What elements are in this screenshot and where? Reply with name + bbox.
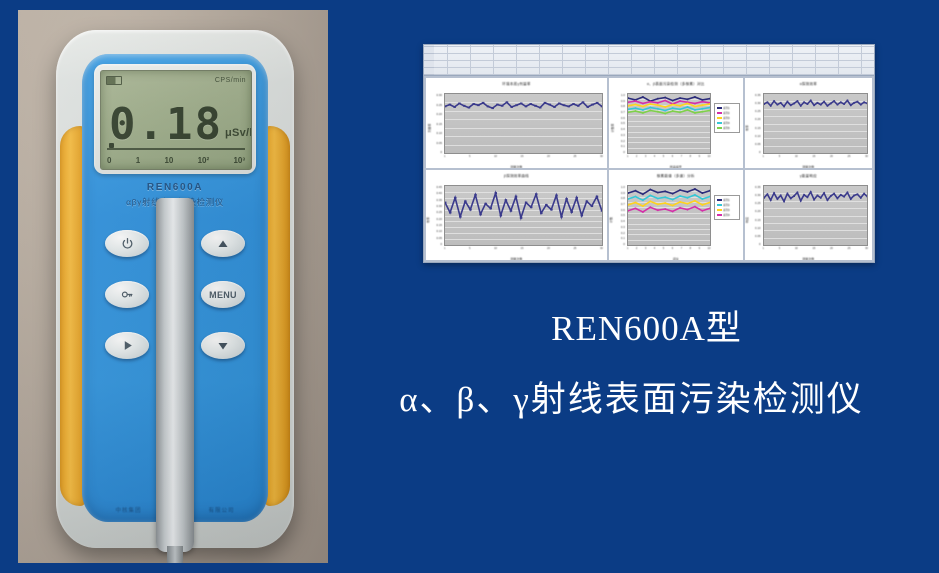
chart-data-point [650,107,651,109]
chart-data-point [568,105,571,107]
chart-data-point [679,189,680,191]
play-button[interactable] [105,332,149,359]
chart-x-axis-label: 道址 [609,257,743,260]
lcd-value: 0.18 [109,103,223,147]
chart-y-tick: 0.15 [755,218,761,222]
menu-button[interactable]: MENU [201,281,245,308]
chart-data-point [563,104,566,106]
chart-data-point [694,188,695,190]
chart-data-point [582,101,585,103]
chart-x-tick: 25 [848,155,851,163]
chart-data-point [820,197,822,199]
chart-x-tick: 15 [812,155,815,163]
chart-y-tick: 0.05 [436,141,442,145]
chart-data-point [628,198,629,200]
chart-data-point [702,204,703,206]
chart-y-tick: 0.10 [436,229,442,233]
chart-x-tick: 15 [812,247,815,255]
chart-data-point [766,193,768,195]
chart-y-tick: 0.05 [436,236,442,240]
chart-data-point [860,197,862,199]
lcd-bezel: CPS/min 0.18 μSv/h 0 1 10 10² [94,64,256,174]
chart-data-point [770,105,772,107]
chart-legend-label: 系列3 [723,208,730,212]
chart-data-point [672,100,673,102]
chart-data-point [575,197,578,199]
chart-data-point [657,98,658,100]
chart-y-tick: 0.15 [436,122,442,126]
chart-data-point [539,107,542,109]
chart-x-tick: 7 [681,155,682,163]
chart-x-tick: 10 [795,155,798,163]
chart-x-ticks: 151015202530 [763,155,868,163]
chart-data-point [601,210,602,212]
chart-y-tick: 0.05 [755,142,761,146]
chart-x-tick: 1 [627,247,628,255]
chart-data-point [806,103,808,105]
chart-y-tick: 0.20 [436,112,442,116]
chart-legend-label: 系列2 [723,111,730,115]
chart-legend-item: 系列4 [717,121,737,125]
chart-data-point [635,104,636,106]
chart-data-point [491,107,494,109]
chart-data-point [687,106,688,108]
chart-x-tick: 3 [645,247,646,255]
chart-plot-area: 计数1.00.90.80.70.60.50.40.30.20.101234567… [609,179,743,260]
chart-x-ticks: 151015202530 [444,155,603,163]
chart-data-point [601,105,602,107]
chart-x-tick: 15 [521,155,524,163]
chart-data-point [823,101,825,103]
play-icon [121,339,134,352]
chart-data-point [657,102,658,104]
chart-data-point [679,100,680,102]
chart-data-point [664,208,665,210]
chart-data-point [687,98,688,100]
chart-data-point [642,193,643,195]
chart-data-point [679,207,680,209]
chart-y-tick: 0.2 [621,231,625,235]
chart-series-line [628,100,710,104]
chart-y-tick: 0.25 [436,103,442,107]
chart-x-tick: 10 [494,155,497,163]
chart-data-point [558,102,561,104]
chart-data-point [635,107,636,109]
chart-legend-label: 系列1 [723,106,730,110]
chart-y-tick: 0.3 [621,133,625,137]
product-name-title: α、β、γ射线表面污染检测仪 [330,371,933,422]
chart-series-line [628,207,710,212]
chart-x-tick: 10 [708,155,711,163]
chart-data-point [709,202,710,204]
lcd-scale-tick: 1 [136,156,140,165]
chart-data-point [581,215,584,217]
chart-plot-area: 计数率1.00.90.80.70.60.50.40.30.20.10123456… [609,87,743,168]
chart-data-point [482,102,485,104]
chart-x-tick: 8 [690,155,691,163]
chart-data-point [664,202,665,204]
chart-data-point [540,212,543,214]
chart-data-point [657,108,658,110]
chart-y-tick: 0.20 [436,217,442,221]
chart-plot [763,93,868,154]
chart-y-tick: 0.7 [621,202,625,206]
lcd-screen: CPS/min 0.18 μSv/h 0 1 10 10² [100,70,252,170]
chart-data-point [535,193,538,195]
chart-x-tick: 20 [547,247,550,255]
chart-y-tick: 0.30 [436,204,442,208]
chart-y-tick: 0.9 [621,99,625,103]
chart-y-tick: 0.6 [621,116,625,120]
chart-data-point [843,196,845,198]
chart-data-point [672,199,673,201]
chart-y-tick: 0 [759,150,761,154]
chart-data-point [505,199,508,201]
chart-x-tick: 2 [636,247,637,255]
chart-legend-label: 系列5 [723,126,730,130]
chart-legend-swatch [717,127,722,130]
chart-data-point [786,193,788,195]
chart-data-point [520,102,523,104]
chart-data-point [650,189,651,191]
chart-legend-label: 系列4 [723,213,730,217]
chart-data-point [449,212,452,214]
chart-legend: 系列1系列2系列3系列4 [714,195,740,220]
chart-data-point [587,106,590,108]
chart-data-point [853,102,855,104]
chart-y-tick: 0.35 [436,198,442,202]
chart-data-point [776,104,778,106]
chart-y-tick: 0.8 [621,196,625,200]
chart-data-point [687,203,688,205]
chart-x-ticks: 151015202530 [444,247,603,255]
chart-data-point [635,202,636,204]
chart-data-point [806,196,808,198]
chart-data-point [800,200,802,202]
chart-x-tick: 25 [573,155,576,163]
chart-y-tick: 0.30 [436,93,442,97]
chart-x-tick: 20 [830,155,833,163]
chart-data-point [850,104,852,106]
chart-data-point [515,104,518,106]
chart-x-tick: 30 [865,155,868,163]
chart-data-point [501,105,504,107]
chart-x-tick: 2 [636,155,637,163]
chart-plot [763,185,868,246]
chart-data-point [687,209,688,211]
chart-x-axis-label: 测量次数 [745,257,872,260]
chart-data-point [650,110,651,112]
chart-y-tick: 0 [759,242,761,246]
chart-data-point [694,194,695,196]
chart-data-point [833,193,835,195]
chart-x-tick: 6 [672,155,673,163]
chart-data-point [474,194,477,196]
chart-y-tick: 0.25 [755,201,761,205]
spreadsheet-table [424,45,874,76]
chart-x-tick: 10 [795,247,798,255]
chart-series-line [628,103,710,107]
chart-data-point [628,204,629,206]
chart-x-ticks: 12345678910 [627,247,711,255]
chart-data-point [702,99,703,101]
chart-legend-item: 系列3 [717,208,737,212]
chart-data-point [863,101,865,103]
slide-caption: REN600A型 α、β、γ射线表面污染检测仪 [330,310,933,422]
chart-data-point [830,195,832,197]
device-footer-left: 中核集团 [115,506,141,514]
chart-data-point [863,193,865,195]
chart-data-point [628,192,629,194]
chart-data-point [816,102,818,104]
chart-data-point [635,207,636,209]
chart-data-point [833,100,835,102]
chart-legend-swatch [717,214,722,217]
chart-plot-area: 剂量率0.300.250.200.150.100.050151015202530… [426,87,607,168]
chart-x-tick: 30 [600,155,603,163]
chart-data-point [495,192,498,194]
chart-y-tick: 0.30 [755,193,761,197]
chart-y-tick: 0.8 [621,104,625,108]
chart-y-tick: 1.0 [621,185,625,189]
chart-data-point [803,101,805,103]
chart-data-point [550,209,553,211]
chart-x-tick: 4 [654,155,655,163]
chart-data-point [790,197,792,199]
keypad-column-left [96,230,158,383]
chart-data-point [836,104,838,106]
lcd-scale-tick: 10 [164,156,173,165]
chart-data-point [694,96,695,98]
chart-x-tick: 3 [645,155,646,163]
chart-x-ticks: 151015202530 [763,247,868,255]
chart-x-tick: 30 [865,247,868,255]
chart-legend-item: 系列2 [717,111,737,115]
battery-icon [106,76,122,85]
chart-y-ticks: 0.300.250.200.150.100.050 [429,93,442,154]
chart-x-tick: 20 [547,155,550,163]
chart-data-point [709,103,710,105]
chart-data-point [702,192,703,194]
lamp-button[interactable] [105,281,149,308]
chart-y-tick: 0.9 [621,191,625,195]
key-icon [120,288,134,301]
chart-x-tick: 10 [494,247,497,255]
chart-legend-item: 系列1 [717,106,737,110]
chart-y-tick: 0.7 [621,110,625,114]
chart-legend-item: 系列1 [717,198,737,202]
chart-data-point [650,103,651,105]
chart-data-point [780,194,782,196]
chart-data-point [657,203,658,205]
chart-y-ticks: 0.450.400.350.300.250.200.150.100.050 [429,185,442,246]
lcd-reading: 0.18 μSv/h [109,91,245,147]
chart-x-tick: 30 [600,247,603,255]
chart-data-point [548,104,551,106]
lcd-scale: 0 1 10 10² 10³ [107,153,245,167]
device-handle [156,198,194,552]
chart-data-point [454,197,457,199]
chart-data-point [672,107,673,109]
device-footer-right: 有限公司 [208,506,234,514]
chart-data-point [453,106,456,108]
chart-data-point [657,197,658,199]
chart-data-point [642,199,643,201]
lcd-bar-axis [107,148,245,150]
chart-x-tick: 5 [779,247,780,255]
chart-data-point [826,105,828,107]
chart-x-tick: 1 [444,247,445,255]
chart-cell: 核素能谱（多道）分析计数1.00.90.80.70.60.50.40.30.20… [609,170,743,260]
chart-data-point [709,110,710,112]
chart-y-tick: 0.30 [755,101,761,105]
chart-data-point [657,111,658,113]
chart-data-point [810,191,812,193]
chart-series-line [764,192,867,201]
chart-data-point [469,209,472,211]
chart-data-point [477,104,480,106]
chart-data-point [687,109,688,111]
chart-data-point [577,105,580,107]
chart-x-tick: 9 [699,155,700,163]
chart-data-point [635,196,636,198]
chart-data-point [586,200,589,202]
chart-data-point [800,105,802,107]
chart-data-point [657,104,658,106]
chart-data-point [642,205,643,207]
chart-y-tick: 0 [440,150,442,154]
chart-data-point [702,104,703,106]
chart-y-tick: 0.45 [436,185,442,189]
chart-data-point [786,101,788,103]
chart-data-point [489,207,492,209]
chart-data-point [642,102,643,104]
lcd-status-bar: CPS/min [106,74,246,87]
power-icon [121,237,134,250]
chart-series-line [628,97,710,101]
chart-data-point [830,102,832,104]
chart-data-point [642,105,643,107]
chart-grid: 环境本底γ剂量率剂量率0.300.250.200.150.100.0501510… [424,76,874,262]
chart-legend-label: 系列1 [723,198,730,202]
chart-legend: 系列1系列2系列3系列4系列5 [714,103,740,133]
chart-y-tick: 0.25 [755,109,761,113]
chart-x-tick: 15 [521,247,524,255]
chart-data-point [853,194,855,196]
chart-x-tick: 1 [444,155,445,163]
product-model-title: REN600A型 [330,310,933,349]
software-report-panel: 环境本底γ剂量率剂量率0.300.250.200.150.100.0501510… [423,44,875,263]
down-button[interactable] [201,332,245,359]
chart-data-point [635,110,636,112]
chart-data-point [813,104,815,106]
chart-y-tick: 0.35 [755,93,761,97]
chart-data-point [591,205,594,207]
chart-data-point [642,211,643,213]
chart-legend-swatch [717,117,722,120]
chart-data-point [776,198,778,200]
chart-data-point [510,106,513,108]
chart-plot-area: 效率0.350.300.250.200.150.100.050151015202… [745,87,872,168]
chart-data-point [464,200,467,202]
chart-data-point [664,97,665,99]
device-body: CPS/min 0.18 μSv/h 0 1 10 10² [56,30,294,548]
chart-legend-label: 系列3 [723,116,730,120]
chart-data-point [572,103,575,105]
chart-plot-area: 响应0.350.300.250.200.150.100.050151015202… [745,179,872,260]
device-photo: CPS/min 0.18 μSv/h 0 1 10 10² [18,10,328,563]
power-button[interactable] [105,230,149,257]
chart-x-tick: 5 [779,155,780,163]
chart-plot [444,185,603,246]
chart-y-tick: 0 [440,242,442,246]
chart-data-point [826,199,828,201]
lcd-unit: μSv/h [225,127,252,139]
chart-data-point [570,211,573,213]
chart-data-point [672,104,673,106]
chart-x-tick: 6 [672,247,673,255]
keypad-column-right: MENU [192,230,254,383]
chart-data-point [545,204,548,206]
chart-data-point [463,105,466,107]
chart-data-point [687,197,688,199]
chart-data-point [773,192,775,194]
chart-data-point [650,194,651,196]
chart-data-point [553,106,556,108]
up-button[interactable] [201,230,245,257]
chart-data-point [560,216,563,218]
chart-data-point [694,206,695,208]
chart-series-line [764,100,867,106]
chart-data-point [796,192,798,194]
chart-cell: α探测效率效率0.350.300.250.200.150.100.0501510… [745,78,872,168]
chart-data-point [679,195,680,197]
chart-data-point [709,190,710,192]
chart-data-point [816,194,818,196]
chart-data-point [555,194,558,196]
chart-data-point [709,207,710,209]
chart-data-point [664,110,665,112]
chart-y-tick: 0.4 [621,127,625,131]
chart-data-point [846,192,848,194]
chart-data-point [664,106,665,108]
chart-legend-swatch [717,204,722,207]
chart-data-point [780,102,782,104]
chart-data-point [810,100,812,102]
chart-x-tick: 9 [699,247,700,255]
chart-data-point [709,196,710,198]
chart-data-point [544,102,547,104]
chart-y-tick: 0.35 [755,185,761,189]
chart-data-point [702,101,703,103]
chart-data-point [764,103,765,105]
chart-legend-swatch [717,107,722,110]
chart-data-point [458,102,461,104]
chart-data-point [709,98,710,100]
chart-data-point [687,191,688,193]
chart-data-point [803,194,805,196]
chart-data-point [657,209,658,211]
chart-data-point [860,104,862,106]
chart-data-point [642,112,643,114]
chart-data-point [520,217,523,219]
chart-plot [444,93,603,154]
chart-data-point [694,112,695,114]
chart-x-tick: 5 [663,155,664,163]
chart-x-axis-label: 样品编号 [609,165,743,168]
chart-data-point [702,210,703,212]
chart-plot-area: 效率0.450.400.350.300.250.200.150.100.0501… [426,179,607,260]
